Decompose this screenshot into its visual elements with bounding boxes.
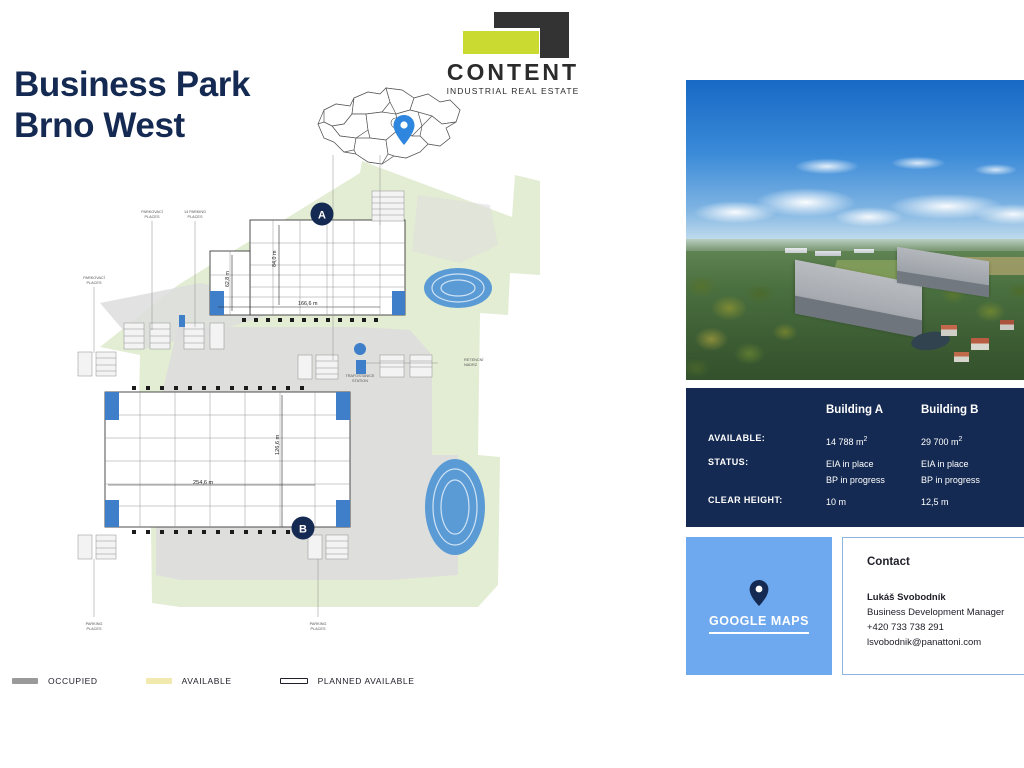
spec-value-a-status: EIA in place BP in progress (826, 453, 921, 491)
legend-item-planned-available: PLANNED AVAILABLE (280, 676, 415, 686)
legend-swatch-occupied-icon (12, 678, 38, 684)
svg-text:PARKING: PARKING (86, 622, 103, 626)
svg-text:PARKOVACÍ: PARKOVACÍ (141, 210, 164, 214)
legend-swatch-available-icon (146, 678, 172, 684)
svg-text:PARKING: PARKING (310, 622, 327, 626)
legend: OCCUPIED AVAILABLE PLANNED AVAILABLE (12, 676, 462, 686)
legend-label-planned-available: PLANNED AVAILABLE (318, 676, 415, 686)
dim-a-wing: 62,8 m (225, 271, 231, 287)
svg-text:STATION: STATION (352, 379, 368, 383)
aerial-photo (686, 80, 1024, 380)
dim-a-depth: 84,0 m (272, 250, 278, 267)
spec-value-a-available-text: 14 788 m (826, 437, 864, 447)
svg-text:TRAFOSTANICE: TRAFOSTANICE (345, 374, 375, 378)
right-panel: Building A Building B AVAILABLE: 14 788 … (686, 80, 1024, 675)
building-a-footprint: 166,6 m 84,0 m 62,8 m (210, 220, 405, 322)
svg-text:PLACES: PLACES (87, 281, 102, 285)
svg-text:B: B (299, 524, 307, 536)
spec-value-b-clear-height: 12,5 m (921, 491, 1016, 513)
building-b-footprint: 254,6 m 126,6 m (105, 386, 350, 534)
site-plan-svg: 166,6 m 84,0 m 62,8 m (60, 155, 540, 665)
building-a-marker[interactable]: A (311, 203, 334, 226)
svg-text:A: A (318, 210, 326, 222)
spec-value-a-available: 14 788 m2 (826, 429, 921, 453)
legend-label-occupied: OCCUPIED (48, 676, 98, 686)
contact-name: Lukáš Svobodník (867, 590, 1024, 605)
svg-text:PLACES: PLACES (188, 215, 203, 219)
svg-text:14 PARKING: 14 PARKING (184, 210, 206, 214)
spec-value-b-status-line1: EIA in place (921, 456, 1016, 472)
legend-label-available: AVAILABLE (182, 676, 232, 686)
retention-pond-south (425, 459, 485, 555)
spec-value-a-status-line1: EIA in place (826, 456, 921, 472)
google-maps-button[interactable]: GOOGLE MAPS (686, 537, 832, 675)
svg-text:NADRZ: NADRZ (464, 363, 478, 367)
spec-key-available: AVAILABLE: (708, 429, 826, 447)
retention-pond-north (424, 268, 492, 308)
svg-text:RETENCNÍ: RETENCNÍ (464, 358, 484, 362)
contact-card: Contact Lukáš Svobodník Business Develop… (842, 537, 1024, 675)
map-pin-icon (748, 579, 770, 612)
site-plan: 166,6 m 84,0 m 62,8 m (60, 155, 540, 665)
page-title-line2: Brno West (14, 105, 250, 146)
contact-role: Business Development Manager (867, 605, 1024, 620)
google-maps-label: GOOGLE MAPS (709, 614, 809, 634)
spec-key-status: STATUS: (708, 453, 826, 471)
contact-email[interactable]: lsvobodnik@panattoni.com (867, 635, 1024, 650)
brochure-page: Business Park Brno West CONTENT INDUSTRI… (0, 0, 1024, 768)
legend-item-occupied: OCCUPIED (12, 676, 98, 686)
dim-a-width: 166,6 m (298, 301, 318, 307)
specs-panel: Building A Building B AVAILABLE: 14 788 … (686, 388, 1024, 527)
page-title-line1: Business Park (14, 64, 250, 105)
contact-title: Contact (867, 556, 1024, 568)
page-title: Business Park Brno West (14, 64, 250, 146)
spec-value-b-status: EIA in place BP in progress (921, 453, 1016, 491)
legend-swatch-planned-icon (280, 678, 308, 684)
dim-b-depth: 126,6 m (275, 434, 281, 455)
spec-col-building-a: Building A (826, 404, 921, 429)
spec-key-clear-height: CLEAR HEIGHT: (708, 491, 826, 509)
spec-value-a-status-line2: BP in progress (826, 472, 921, 488)
spec-value-b-available-text: 29 700 m (921, 437, 959, 447)
dim-b-width: 254,6 m (193, 480, 214, 486)
spec-value-b-status-line2: BP in progress (921, 472, 1016, 488)
spec-value-b-available: 29 700 m2 (921, 429, 1016, 453)
contact-phone[interactable]: +420 733 738 291 (867, 620, 1024, 635)
svg-text:PARKOVACÍ: PARKOVACÍ (83, 276, 106, 280)
svg-text:PLACES: PLACES (145, 215, 160, 219)
svg-text:PLACES: PLACES (87, 627, 102, 631)
building-b-marker[interactable]: B (292, 517, 315, 540)
spec-value-a-clear-height: 10 m (826, 491, 921, 513)
trafostation-marker (356, 360, 366, 374)
spec-col-building-b: Building B (921, 404, 1016, 429)
spec-col-blank (708, 404, 826, 429)
svg-text:PLACES: PLACES (311, 627, 326, 631)
legend-item-available: AVAILABLE (146, 676, 232, 686)
logo-mark-icon (457, 12, 569, 58)
bottom-row: GOOGLE MAPS Contact Lukáš Svobodník Busi… (686, 537, 1024, 675)
